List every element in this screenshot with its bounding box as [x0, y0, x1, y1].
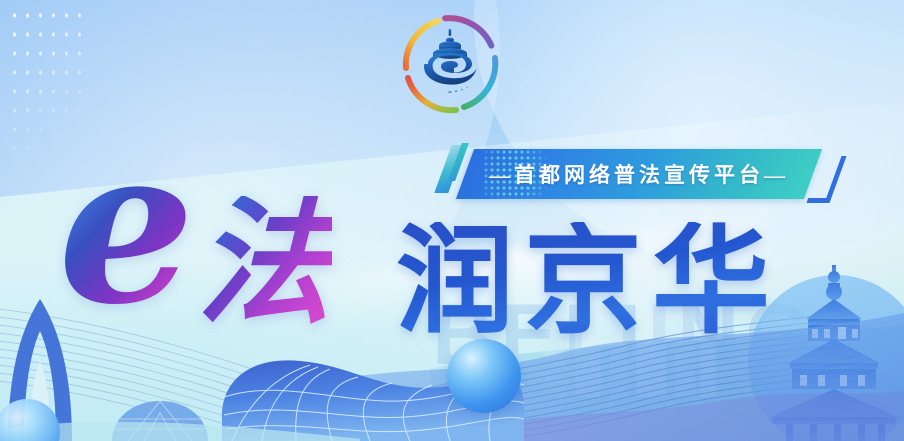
bottom-cityscape-art	[0, 251, 904, 441]
e-law-beijing-banner: BEIJING	[0, 0, 904, 441]
temple-of-heaven-e-emblem	[424, 29, 477, 93]
ribbon-label: —首都网络普法宣传平台—	[465, 149, 813, 199]
dot-matrix-pattern-icon	[8, 6, 90, 156]
capital-internet-law-logo	[390, 6, 510, 124]
slogan-ribbon: —首都网络普法宣传平台—	[441, 143, 841, 213]
gradient-sphere-center	[447, 339, 521, 413]
